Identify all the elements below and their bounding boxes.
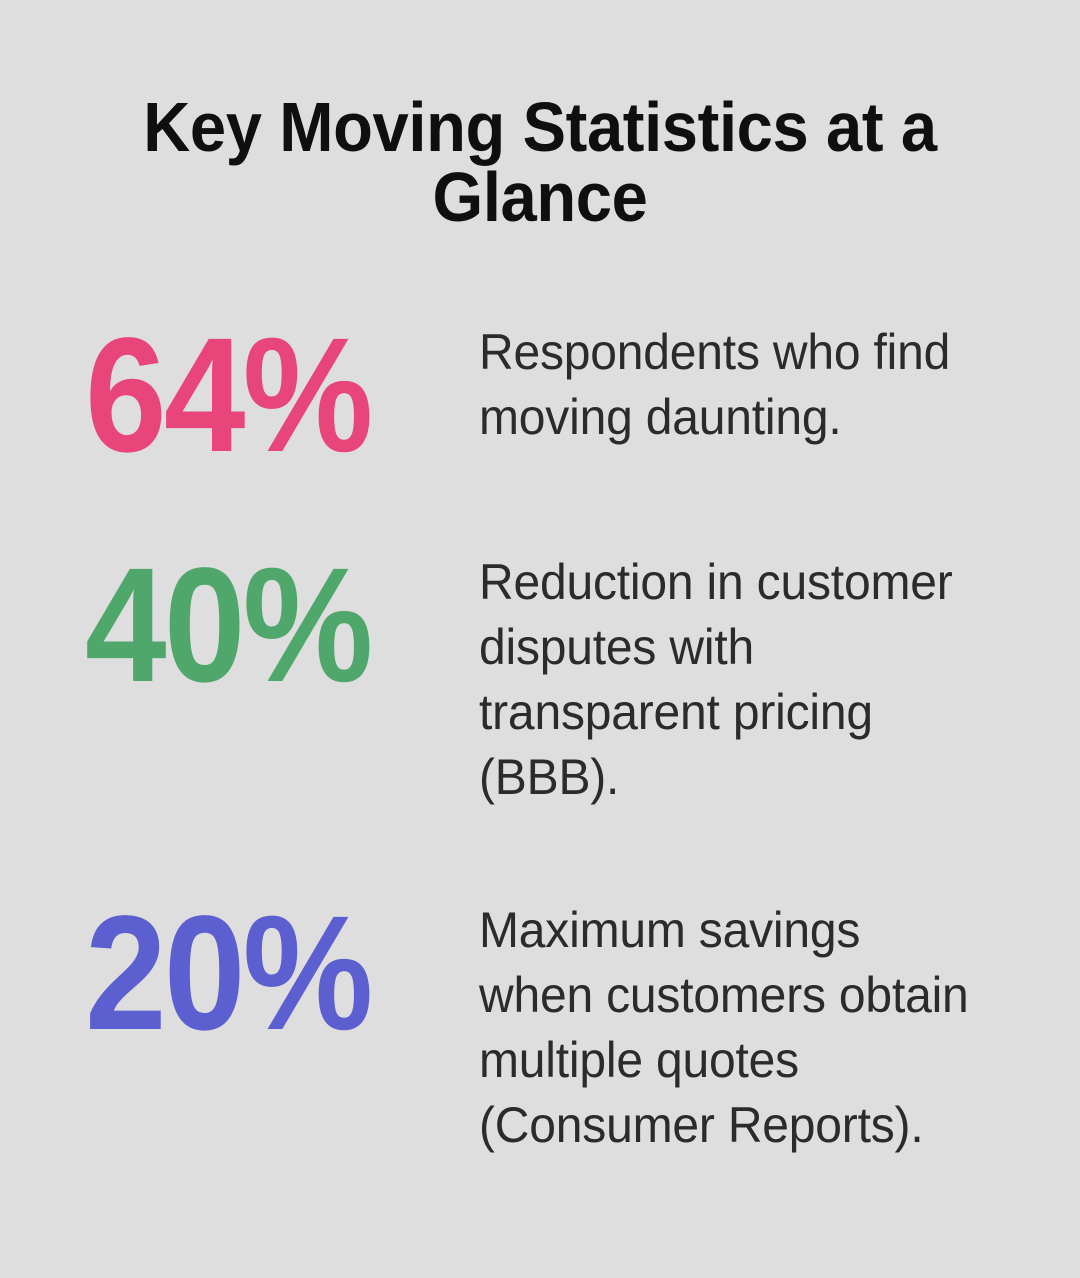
stat-description: Maximum savings when customers obtain mu… bbox=[479, 898, 973, 1158]
stat-description: Reduction in customer disputes with tran… bbox=[479, 550, 973, 810]
stat-item: 64% Respondents who find moving daunting… bbox=[85, 320, 995, 462]
stat-item: 40% Reduction in customer disputes with … bbox=[85, 550, 995, 810]
page-title: Key Moving Statistics at a Glance bbox=[117, 92, 963, 232]
title-block: Key Moving Statistics at a Glance bbox=[85, 0, 995, 232]
stat-value: 64% bbox=[85, 320, 440, 462]
stat-value: 20% bbox=[85, 898, 440, 1040]
stat-item: 20% Maximum savings when customers obtai… bbox=[85, 898, 995, 1158]
stat-value: 40% bbox=[85, 550, 440, 692]
stat-description: Respondents who find moving daunting. bbox=[479, 320, 973, 450]
infographic-canvas: Key Moving Statistics at a Glance 64% Re… bbox=[0, 0, 1080, 1278]
statistics-list: 64% Respondents who find moving daunting… bbox=[85, 320, 995, 1158]
